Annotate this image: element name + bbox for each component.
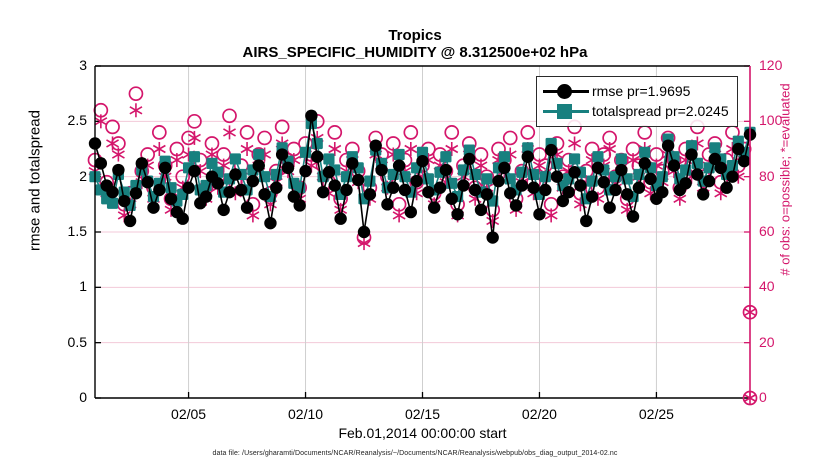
data-point-marker	[217, 204, 229, 216]
data-point-marker	[709, 142, 720, 153]
legend-label-totalspread: totalspread pr=2.0245	[592, 103, 729, 119]
data-point-marker	[405, 206, 417, 218]
data-point-marker	[282, 162, 294, 174]
data-point-marker	[527, 182, 539, 194]
obs-possible-marker	[223, 109, 236, 122]
data-point-marker	[364, 175, 375, 186]
obs-possible-marker	[521, 126, 534, 139]
data-point-marker	[387, 182, 399, 194]
data-point-marker	[299, 165, 311, 177]
data-point-marker	[95, 157, 107, 169]
data-point-marker	[492, 175, 504, 187]
obs-evaluated-marker	[106, 136, 118, 150]
data-point-marker	[323, 153, 334, 164]
data-point-marker	[569, 153, 580, 164]
legend-key-totalspread	[543, 103, 589, 119]
data-point-marker	[271, 169, 282, 180]
data-point-marker	[165, 193, 177, 205]
data-point-marker	[504, 187, 516, 199]
data-point-marker	[498, 162, 510, 174]
obs-possible-marker	[404, 126, 417, 139]
obs-evaluated-marker	[171, 153, 183, 167]
data-point-marker	[679, 177, 691, 189]
data-point-marker	[457, 179, 469, 191]
obs-evaluated-marker	[223, 125, 235, 139]
data-point-marker	[346, 157, 358, 169]
obs-evaluated-marker	[545, 208, 557, 222]
data-point-marker	[563, 186, 575, 198]
data-point-marker	[446, 193, 458, 205]
data-point-marker	[463, 153, 475, 165]
data-point-marker	[486, 231, 498, 243]
data-point-marker	[317, 186, 329, 198]
data-point-marker	[352, 174, 364, 186]
data-point-marker	[540, 171, 551, 182]
data-point-marker	[644, 173, 656, 185]
legend-key-rmse	[543, 83, 589, 99]
data-point-marker	[422, 186, 434, 198]
data-point-marker	[230, 153, 241, 164]
data-point-marker	[586, 190, 598, 202]
data-point-marker	[615, 164, 627, 176]
data-point-marker	[253, 149, 264, 160]
data-point-marker	[200, 190, 212, 202]
data-point-marker	[475, 204, 487, 216]
obs-possible-marker	[106, 120, 119, 133]
data-point-marker	[539, 184, 551, 196]
obs-possible-marker	[504, 131, 517, 144]
data-point-marker	[522, 151, 534, 163]
obs-evaluated-marker	[112, 148, 124, 162]
data-point-marker	[141, 176, 153, 188]
data-point-marker	[364, 188, 376, 200]
obs-possible-marker	[258, 131, 271, 144]
data-point-marker	[609, 184, 621, 196]
data-point-marker	[410, 175, 422, 187]
obs-evaluated-marker	[153, 142, 165, 156]
data-point-marker	[107, 198, 118, 209]
data-point-marker	[241, 201, 253, 213]
data-point-marker	[312, 138, 323, 149]
data-point-marker	[112, 164, 124, 176]
data-point-marker	[703, 175, 715, 187]
data-point-marker	[276, 148, 288, 160]
data-point-marker	[136, 157, 148, 169]
obs-evaluated-marker	[487, 214, 499, 228]
data-point-marker	[440, 164, 452, 176]
data-point-marker	[481, 173, 492, 184]
data-point-marker	[720, 182, 732, 194]
data-point-marker	[393, 159, 405, 171]
chart-legend[interactable]: rmse pr=1.9695 totalspread pr=2.0245	[536, 76, 738, 127]
obs-possible-marker	[276, 120, 289, 133]
data-point-marker	[598, 176, 610, 188]
data-point-marker	[311, 151, 323, 163]
obs-evaluated-marker	[188, 131, 200, 145]
data-point-marker	[305, 110, 317, 122]
data-point-marker	[639, 157, 651, 169]
data-point-marker	[188, 165, 200, 177]
data-point-marker	[592, 162, 604, 174]
data-point-marker	[656, 186, 668, 198]
legend-item-rmse[interactable]: rmse pr=1.9695	[543, 81, 729, 101]
data-point-marker	[147, 201, 159, 213]
data-point-marker	[416, 155, 428, 167]
obs-evaluated-marker	[393, 208, 405, 222]
data-point-marker	[223, 186, 235, 198]
data-point-marker	[603, 201, 615, 213]
data-point-marker	[159, 162, 171, 174]
data-point-marker	[358, 226, 370, 238]
obs-evaluated-marker	[568, 136, 580, 150]
data-point-marker	[375, 164, 387, 176]
data-point-marker	[481, 188, 493, 200]
figure-canvas: Tropics AIRS_SPECIFIC_HUMIDITY @ 8.31250…	[0, 0, 830, 470]
obs-possible-marker	[328, 126, 341, 139]
data-point-marker	[516, 179, 528, 191]
data-point-marker	[177, 213, 189, 225]
obs-evaluated-marker	[130, 103, 142, 117]
data-point-marker	[551, 170, 563, 182]
data-point-marker	[340, 184, 352, 196]
data-point-marker	[732, 143, 744, 155]
data-point-marker	[568, 166, 580, 178]
data-point-marker	[258, 188, 270, 200]
data-point-marker	[334, 213, 346, 225]
data-point-marker	[434, 182, 446, 194]
data-point-marker	[182, 182, 194, 194]
data-point-marker	[545, 144, 557, 156]
data-point-marker	[691, 168, 703, 180]
data-point-marker	[264, 217, 276, 229]
data-point-marker	[270, 182, 282, 194]
data-point-marker	[399, 184, 411, 196]
obs-possible-marker	[638, 126, 651, 139]
data-point-marker	[253, 159, 265, 171]
data-point-marker	[329, 179, 341, 191]
data-point-marker	[165, 182, 176, 193]
obs-possible-marker	[241, 126, 254, 139]
obs-possible-marker	[153, 126, 166, 139]
data-point-marker	[212, 177, 224, 189]
data-point-marker	[118, 195, 130, 207]
data-point-marker	[428, 201, 440, 213]
data-point-marker	[697, 188, 709, 200]
data-point-marker	[510, 199, 522, 211]
data-point-marker	[153, 184, 165, 196]
plot-area	[0, 0, 830, 470]
data-point-marker	[621, 188, 633, 200]
data-point-marker	[293, 199, 305, 211]
data-point-marker	[394, 149, 405, 160]
data-point-marker	[574, 179, 586, 191]
data-file-caption: data file: /Users/gharamti/Documents/NCA…	[0, 450, 830, 457]
data-point-marker	[580, 215, 592, 227]
data-point-marker	[124, 215, 136, 227]
data-point-marker	[323, 166, 335, 178]
data-point-marker	[300, 147, 311, 158]
legend-item-totalspread[interactable]: totalspread pr=2.0245	[543, 101, 729, 121]
data-point-marker	[639, 147, 650, 158]
data-point-marker	[381, 198, 393, 210]
data-point-marker	[726, 170, 738, 182]
data-point-marker	[499, 151, 510, 162]
data-point-marker	[130, 187, 142, 199]
data-point-marker	[616, 153, 627, 164]
data-point-marker	[657, 171, 668, 182]
legend-label-rmse: rmse pr=1.9695	[592, 83, 690, 99]
obs-possible-marker	[445, 126, 458, 139]
data-point-marker	[627, 210, 639, 222]
data-point-marker	[440, 151, 451, 162]
data-point-marker	[247, 175, 259, 187]
data-point-marker	[668, 159, 680, 171]
data-point-marker	[229, 168, 241, 180]
data-point-marker	[738, 155, 750, 167]
obs-possible-marker	[129, 87, 142, 100]
data-point-marker	[370, 139, 382, 151]
data-point-marker	[451, 208, 463, 220]
data-point-marker	[189, 151, 200, 162]
data-point-marker	[633, 182, 645, 194]
data-point-marker	[469, 184, 481, 196]
data-point-marker	[715, 162, 727, 174]
data-point-marker	[533, 208, 545, 220]
data-point-marker	[235, 184, 247, 196]
obs-evaluated-marker	[241, 142, 253, 156]
data-point-marker	[685, 148, 697, 160]
data-point-marker	[662, 139, 674, 151]
data-point-marker	[592, 151, 603, 162]
data-point-marker	[106, 186, 118, 198]
